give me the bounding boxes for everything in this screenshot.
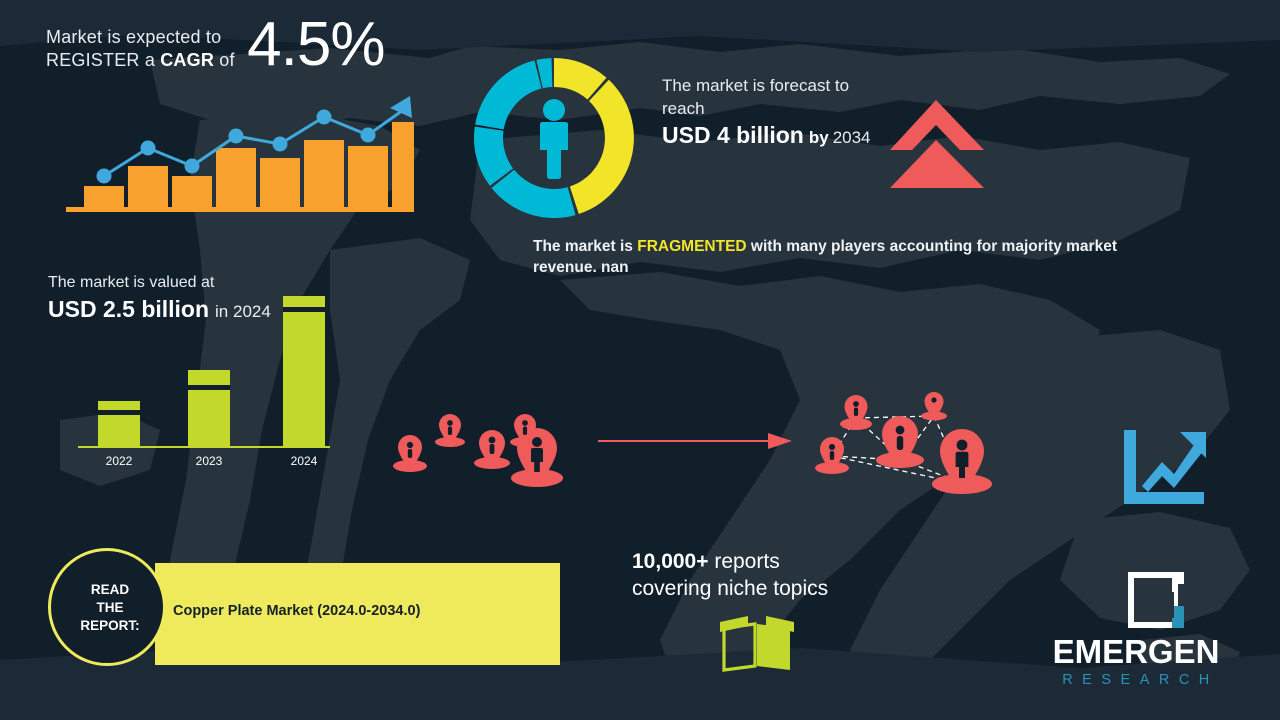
green-bar-label-2024: 2024 — [274, 454, 334, 468]
open-book-icon — [718, 608, 796, 674]
fragmented-post: with many players accounting for majorit… — [747, 238, 1117, 255]
reports-line1-rest: reports — [709, 550, 780, 573]
logo-mark-icon — [1016, 572, 1256, 634]
cagr-line-2: REGISTER a CAGR of — [46, 49, 235, 72]
green-bar-notch — [283, 307, 325, 312]
reports-line-1: 10,000+ reports — [632, 548, 912, 575]
report-title: Copper Plate Market (2024.0-2034.0) — [173, 603, 420, 619]
fragmented-text-block: The market is FRAGMENTED with many playe… — [533, 236, 1213, 278]
reports-count: 10,000+ — [632, 550, 709, 573]
orange-chart-baseline — [66, 207, 414, 212]
cagr-line2-pre: REGISTER a — [46, 50, 160, 70]
reports-count-block: 10,000+ reports covering niche topics — [632, 548, 912, 602]
person-icon — [540, 99, 568, 179]
cagr-keyword: CAGR — [160, 50, 214, 70]
fragmented-keyword: FRAGMENTED — [637, 238, 746, 255]
report-cta-bar[interactable]: Copper Plate Market (2024.0-2034.0) — [155, 563, 560, 665]
reports-line-2: covering niche topics — [632, 575, 912, 602]
right-arrow-icon — [596, 430, 796, 452]
connected-map-pin-network-icon — [812, 388, 1017, 500]
cta-line-1: READ — [91, 582, 129, 597]
green-bar-2022 — [98, 401, 140, 446]
cta-line-3: REPORT: — [80, 618, 139, 633]
cagr-line2-post: of — [214, 50, 235, 70]
fragmented-line-1: The market is FRAGMENTED with many playe… — [533, 236, 1213, 257]
emergen-research-logo: EMERGEN RESEARCH — [1016, 572, 1256, 690]
fragmented-line-2: revenue. nan — [533, 257, 1213, 278]
donut-segment-2 — [492, 170, 576, 218]
forecast-value: USD 4 billion — [662, 122, 804, 148]
green-bar-label-2022: 2022 — [89, 454, 149, 468]
donut-segment-4 — [475, 60, 541, 129]
green-valuation-bar-chart: 2022 2023 2024 — [78, 288, 338, 468]
cta-line-2: THE — [97, 600, 124, 615]
forecast-by-label: by — [809, 128, 829, 147]
orange-growth-bar-chart — [66, 86, 414, 220]
green-chart-baseline — [78, 446, 330, 448]
read-the-report-label: READ THE REPORT: — [51, 581, 169, 635]
green-bar-notch — [188, 385, 230, 390]
green-bar-2023 — [188, 370, 230, 446]
green-bar-notch — [98, 410, 140, 415]
cagr-text-lines: Market is expected to REGISTER a CAGR of — [46, 22, 235, 72]
cagr-line-1: Market is expected to — [46, 26, 235, 49]
forecast-year: 2034 — [833, 128, 871, 147]
green-bar-label-2023: 2023 — [179, 454, 239, 468]
map-pin-cluster-icon — [382, 386, 582, 494]
donut-segment-1b — [570, 80, 634, 214]
green-bar-2024 — [283, 296, 325, 446]
trend-arrow-head — [390, 96, 412, 118]
logo-subtitle: RESEARCH — [1016, 670, 1256, 690]
donut-share-chart — [468, 52, 640, 224]
infographic-canvas: Market is expected to REGISTER a CAGR of… — [0, 0, 1280, 720]
logo-wordmark: EMERGEN — [1016, 634, 1256, 670]
cagr-value: 4.5% — [247, 14, 384, 76]
read-the-report-button[interactable]: READ THE REPORT: — [48, 548, 166, 666]
fragmented-pre: The market is — [533, 238, 637, 255]
double-chevron-up-icon — [888, 92, 988, 188]
line-chart-arrow-icon — [1122, 430, 1206, 512]
